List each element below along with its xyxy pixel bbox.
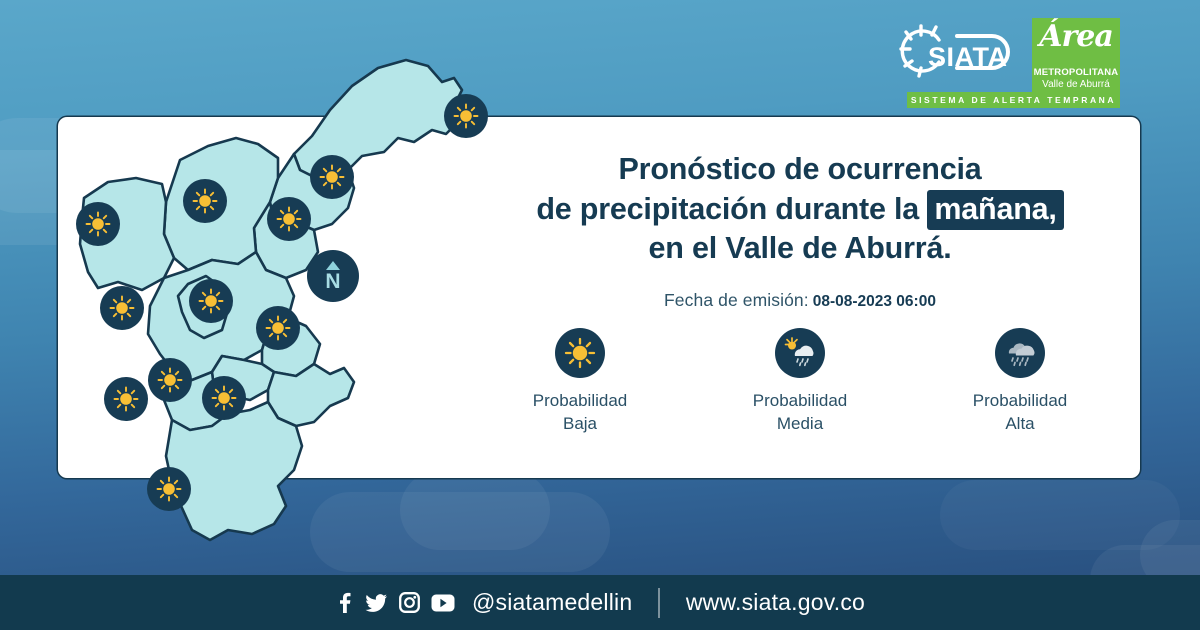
area-logo-line2: Valle de Aburrá bbox=[1042, 79, 1110, 91]
social-icon-group bbox=[335, 592, 455, 614]
area-metropolitana-logo: Área METROPOLITANA Valle de Aburrá bbox=[1032, 18, 1120, 96]
forecast-text-block: Pronóstico de ocurrencia de precipitació… bbox=[470, 150, 1130, 311]
instagram-glyph-icon bbox=[399, 592, 420, 613]
emission-date: Fecha de emisión:08-08-2023 06:00 bbox=[470, 290, 1130, 311]
legend-label-alta: Probabilidad Alta bbox=[930, 390, 1110, 436]
cloud-shape bbox=[400, 470, 550, 550]
website-url[interactable]: www.siata.gov.co bbox=[686, 589, 865, 616]
legend-item-baja: Probabilidad Baja bbox=[490, 328, 670, 436]
footer-divider bbox=[658, 588, 660, 618]
social-handle[interactable]: @siatamedellin bbox=[472, 589, 632, 616]
twitter-bird-icon bbox=[365, 592, 388, 614]
siata-tagline: SISTEMA DE ALERTA TEMPRANA bbox=[907, 92, 1120, 108]
sun-cloud-rain-icon bbox=[783, 336, 817, 370]
instagram-icon[interactable] bbox=[399, 592, 420, 613]
youtube-glyph-icon bbox=[431, 594, 455, 612]
title-highlight: mañana, bbox=[927, 190, 1063, 230]
area-logo-script: Área bbox=[1032, 22, 1120, 52]
siata-logo-text: SIATA bbox=[928, 42, 1008, 73]
page-title: Pronóstico de ocurrencia de precipitació… bbox=[470, 150, 1130, 269]
probability-legend: Probabilidad Baja bbox=[470, 328, 1130, 436]
legend-item-alta: Probabilidad Alta bbox=[930, 328, 1110, 436]
facebook-glyph-icon bbox=[335, 592, 354, 614]
title-line-2-text: de precipitación durante la bbox=[536, 192, 927, 226]
legend-label-baja: Probabilidad Baja bbox=[490, 390, 670, 436]
facebook-icon[interactable] bbox=[335, 592, 354, 614]
twitter-icon[interactable] bbox=[365, 592, 388, 614]
cloud-shape bbox=[310, 492, 610, 572]
legend-item-media: Probabilidad Media bbox=[710, 328, 890, 436]
emission-date-value: 08-08-2023 06:00 bbox=[813, 293, 936, 310]
legend-label-media: Probabilidad Media bbox=[710, 390, 890, 436]
logo-group: SIATA Área METROPOLITANA Valle de Aburrá bbox=[899, 18, 1120, 96]
footer-bar: @siatamedellin www.siata.gov.co bbox=[0, 575, 1200, 630]
legend-icon-wrap-baja bbox=[555, 328, 605, 378]
title-line-2: de precipitación durante la mañana, bbox=[470, 190, 1130, 230]
legend-icon-wrap-media bbox=[775, 328, 825, 378]
title-line-1: Pronóstico de ocurrencia bbox=[470, 150, 1130, 190]
legend-icon-wrap-alta bbox=[995, 328, 1045, 378]
sun-icon bbox=[564, 337, 596, 369]
title-line-3: en el Valle de Aburrá. bbox=[470, 229, 1130, 269]
youtube-icon[interactable] bbox=[431, 594, 455, 612]
siata-logo: SIATA bbox=[899, 18, 1024, 96]
cloud-shape bbox=[940, 480, 1180, 550]
emission-date-label: Fecha de emisión: bbox=[664, 290, 809, 310]
rain-cloud-icon bbox=[1003, 336, 1037, 370]
area-logo-line1: METROPOLITANA bbox=[1034, 68, 1119, 79]
